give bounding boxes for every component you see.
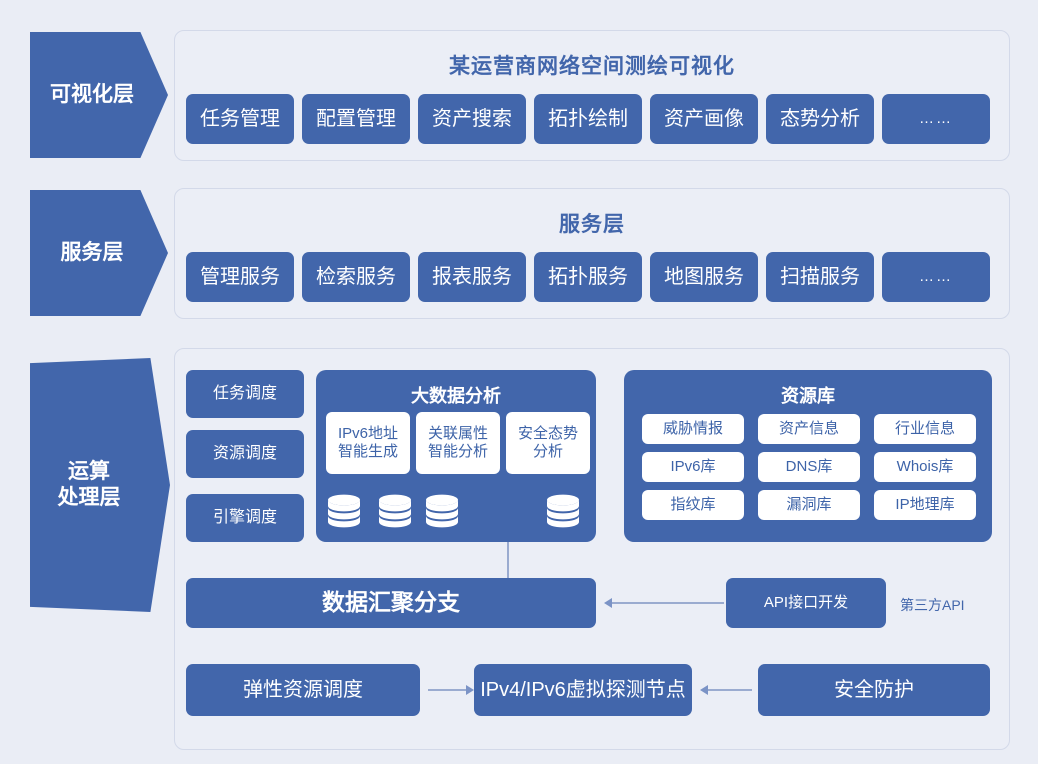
res-item-vulnerability-db[interactable]: 漏洞库: [758, 490, 860, 520]
security-protection-box[interactable]: 安全防护: [758, 664, 990, 716]
layer-tag-compute-label-line2: 处理层: [58, 485, 121, 511]
vis-item-asset-profile[interactable]: 资产画像: [650, 94, 758, 144]
bigdata-title: 大数据分析: [316, 382, 596, 408]
scheduler-engine[interactable]: 引擎调度: [186, 494, 304, 542]
arrow-right-icon: [466, 685, 474, 695]
layer-tag-visualization-label: 可视化层: [50, 82, 134, 108]
layer-tag-compute-label-line1: 运算: [68, 459, 110, 485]
scheduler-task[interactable]: 任务调度: [186, 370, 304, 418]
layer-tag-service: 服务层: [30, 190, 168, 316]
third-party-api-note: 第三方API: [900, 595, 965, 615]
layer-tag-visualization: 可视化层: [30, 32, 168, 158]
svc-item-map[interactable]: 地图服务: [650, 252, 758, 302]
res-item-threat-intel[interactable]: 威胁情报: [642, 414, 744, 444]
res-item-whois-db[interactable]: Whois库: [874, 452, 976, 482]
vis-item-asset-search[interactable]: 资产搜索: [418, 94, 526, 144]
res-item-asset-info[interactable]: 资产信息: [758, 414, 860, 444]
bigdata-card-correlation-analysis[interactable]: 关联属性 智能分析: [416, 412, 500, 474]
arrow-left-icon: [700, 685, 708, 695]
connector-security-to-probe: [708, 689, 752, 691]
database-icon: [377, 494, 413, 528]
bigdata-card-security-situation[interactable]: 安全态势 分析: [506, 412, 590, 474]
database-icon: [424, 494, 460, 528]
res-item-ip-geo-db[interactable]: IP地理库: [874, 490, 976, 520]
bigdata-card-security-situation-line2: 分析: [533, 443, 563, 461]
aggregation-branch-box[interactable]: 数据汇聚分支: [186, 578, 596, 628]
bigdata-card-correlation-analysis-line1: 关联属性: [428, 425, 488, 443]
vis-item-topology-drawing[interactable]: 拓扑绘制: [534, 94, 642, 144]
vis-item-config-management[interactable]: 配置管理: [302, 94, 410, 144]
visualization-title: 某运营商网络空间测绘可视化: [175, 50, 1009, 80]
bigdata-card-security-situation-line1: 安全态势: [518, 425, 578, 443]
res-item-industry-info[interactable]: 行业信息: [874, 414, 976, 444]
svc-item-scan[interactable]: 扫描服务: [766, 252, 874, 302]
res-item-ipv6-db[interactable]: IPv6库: [642, 452, 744, 482]
layer-tag-service-label: 服务层: [61, 240, 124, 266]
connector-api-to-aggregation: [612, 602, 724, 604]
bigdata-card-ipv6-generation[interactable]: IPv6地址 智能生成: [326, 412, 410, 474]
res-item-fingerprint-db[interactable]: 指纹库: [642, 490, 744, 520]
svc-item-more[interactable]: ……: [882, 252, 990, 302]
bigdata-card-ipv6-generation-line1: IPv6地址: [338, 425, 398, 443]
vis-item-situation-analysis[interactable]: 态势分析: [766, 94, 874, 144]
vis-item-task-management[interactable]: 任务管理: [186, 94, 294, 144]
virtual-probe-node-box[interactable]: IPv4/IPv6虚拟探测节点: [474, 664, 692, 716]
svc-item-report[interactable]: 报表服务: [418, 252, 526, 302]
bigdata-card-correlation-analysis-line2: 智能分析: [428, 443, 488, 461]
layer-tag-compute: 运算 处理层: [30, 358, 170, 612]
architecture-diagram: 可视化层 某运营商网络空间测绘可视化 任务管理 配置管理 资产搜索 拓扑绘制 资…: [0, 0, 1038, 764]
res-item-dns-db[interactable]: DNS库: [758, 452, 860, 482]
api-development-box[interactable]: API接口开发: [726, 578, 886, 628]
svc-item-retrieval[interactable]: 检索服务: [302, 252, 410, 302]
service-title: 服务层: [175, 208, 1009, 238]
svc-item-management[interactable]: 管理服务: [186, 252, 294, 302]
scheduler-resource[interactable]: 资源调度: [186, 430, 304, 478]
resource-library-title: 资源库: [624, 382, 992, 408]
svc-item-topology[interactable]: 拓扑服务: [534, 252, 642, 302]
database-icon: [326, 494, 362, 528]
connector-elastic-to-probe: [428, 689, 468, 691]
arrow-left-icon: [604, 598, 612, 608]
bigdata-card-ipv6-generation-line2: 智能生成: [338, 443, 398, 461]
database-icon: [545, 494, 581, 528]
connector-bigdata-to-aggregation: [507, 542, 509, 578]
vis-item-more[interactable]: ……: [882, 94, 990, 144]
elastic-resource-scheduling-box[interactable]: 弹性资源调度: [186, 664, 420, 716]
